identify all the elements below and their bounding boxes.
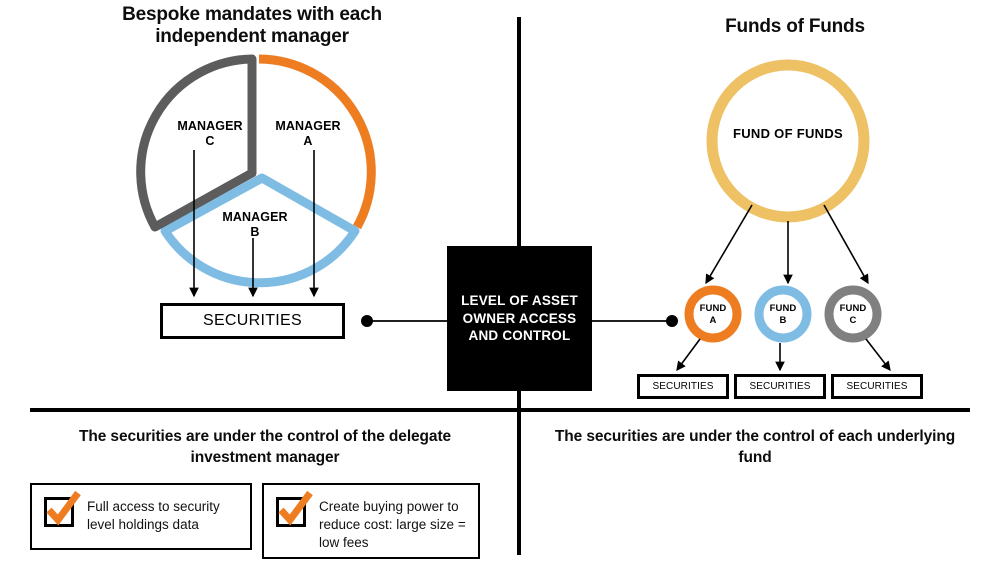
fund-a-line2: A [710, 315, 717, 326]
fund-b-line1: FUND [770, 303, 797, 314]
manager-b-label: MANAGER B [209, 210, 301, 240]
manager-c-line1: MANAGER [177, 119, 242, 133]
manager-a-label: MANAGER A [262, 119, 354, 149]
right-connector [592, 315, 678, 327]
diagram-canvas: Bespoke mandates with each independent m… [0, 0, 990, 562]
fof-to-funds-arrows [706, 205, 868, 283]
fund-a-line1: FUND [700, 303, 727, 314]
left-caption: The securities are under the control of … [40, 427, 490, 469]
manager-a-line2: A [303, 134, 312, 148]
fund-a-label: FUND A [685, 303, 741, 326]
fund-c-line1: FUND [840, 303, 867, 314]
checkmark-icon [273, 488, 317, 532]
fund-c-line2: C [850, 315, 857, 326]
manager-b-line2: B [250, 225, 259, 239]
fund-b-line2: B [780, 315, 787, 326]
funds-to-securities-arrows [677, 339, 890, 370]
manager-a-line1: MANAGER [275, 119, 340, 133]
control-box-label: LEVEL OF ASSET OWNER ACCESS AND CONTROL [447, 292, 592, 346]
checkmark-icon [41, 488, 85, 532]
control-box: LEVEL OF ASSET OWNER ACCESS AND CONTROL [447, 246, 592, 391]
securities-box-fund-a: SECURITIES [637, 374, 729, 399]
right-caption: The securities are under the control of … [545, 427, 965, 469]
benefit-card-2: Create buying power to reduce cost: larg… [262, 483, 480, 559]
left-connector [361, 315, 447, 327]
manager-c-label: MANAGER C [164, 119, 256, 149]
horizontal-divider [30, 408, 970, 412]
benefit-card-1: Full access to security level holdings d… [30, 483, 252, 550]
right-panel-title: Funds of Funds [600, 16, 990, 38]
benefit-card-2-text: Create buying power to reduce cost: larg… [319, 497, 468, 552]
securities-box-fund-b: SECURITIES [734, 374, 826, 399]
checkbox-2 [276, 497, 308, 529]
manager-b-line1: MANAGER [222, 210, 287, 224]
securities-box-left: SECURITIES [160, 303, 345, 339]
fund-b-label: FUND B [755, 303, 811, 326]
left-panel-title: Bespoke mandates with each independent m… [72, 4, 432, 49]
fund-of-funds-label: FUND OF FUNDS [718, 125, 858, 142]
fund-c-label: FUND C [825, 303, 881, 326]
benefit-card-1-text: Full access to security level holdings d… [87, 497, 240, 534]
manager-c-line2: C [205, 134, 214, 148]
checkbox-1 [44, 497, 76, 529]
securities-box-fund-c: SECURITIES [831, 374, 923, 399]
